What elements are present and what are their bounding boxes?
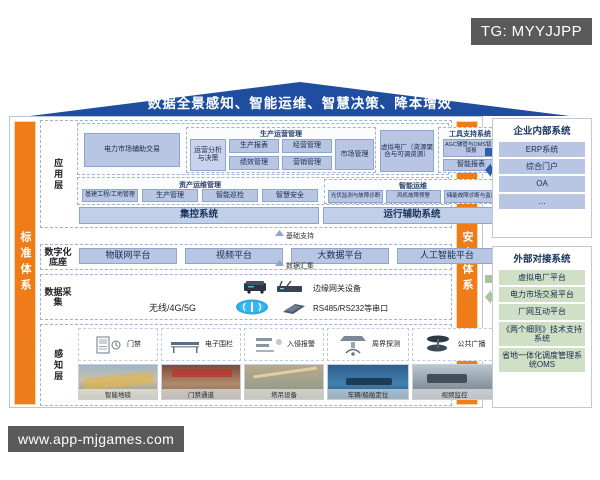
app-wind-alarm[interactable]: 风机故障预警 xyxy=(386,190,441,203)
perception-electronic-fence-label: 电子围栏 xyxy=(205,341,233,348)
layer-digital-base-label: 数字化底座 xyxy=(41,245,75,269)
perception-intrusion-alarm-label: 入侵报警 xyxy=(287,341,315,348)
wireless-signal-icon xyxy=(235,299,269,315)
perception-perimeter-detection-label: 周界探测 xyxy=(372,341,400,348)
app-production-mgmt[interactable]: 生产管理 xyxy=(142,189,198,202)
internal-item-erp[interactable]: ERP系统 xyxy=(499,142,585,157)
access-control-icon xyxy=(95,334,125,356)
layer-perception-label: 感知层 xyxy=(41,325,75,405)
layer-data-collect: 数据采集 边缘网关设备 无线/4G/5G xyxy=(40,274,452,320)
app-bottom-row: 集控系统 运行辅助系统 xyxy=(79,207,447,225)
app-pv-monitor[interactable]: 光伏监测与故障诊断 xyxy=(328,190,383,203)
photo-caption-vehicle-vessel: 车辆/船舶定位 xyxy=(328,389,408,399)
app-marketing-mgmt[interactable]: 营销管理 xyxy=(282,156,332,170)
perception-photo-weighbridge[interactable]: 智能地磅 xyxy=(78,364,158,400)
internal-item-more[interactable]: … xyxy=(499,194,585,209)
router-icon xyxy=(275,280,305,295)
external-item-grid-interaction[interactable]: 厂网互动平台 xyxy=(499,304,585,319)
connector-base-support: 基础支持 xyxy=(275,230,314,241)
layer-perception: 感知层 门禁 xyxy=(40,324,452,406)
layer-digital-base: 数字化底座 物联网平台 视频平台 大数据平台 人工智能平台 xyxy=(40,244,452,270)
app-business-mgmt[interactable]: 经营管理 xyxy=(282,139,332,153)
connector-data-aggregate: 数据汇集 xyxy=(275,260,314,271)
layer-application-body: 电力市场辅助交易 生产运营管理 运营分析与决策 生产报表 经营管理 绩效管理 营… xyxy=(75,121,451,227)
app-smart-safety[interactable]: 智慧安全 xyxy=(262,189,318,202)
base-iot-platform[interactable]: 物联网平台 xyxy=(79,248,177,264)
serial-cable-icon xyxy=(281,301,307,315)
pillar-standard-system: 标准体系 xyxy=(14,121,36,405)
layer-data-collect-body: 边缘网关设备 无线/4G/5G RS485/RS232等串口 xyxy=(75,275,451,319)
edge-device-icon xyxy=(243,279,269,294)
watermark-site: www.app-mjgames.com xyxy=(8,426,184,452)
app-market-mgmt[interactable]: 市场管理 xyxy=(335,139,374,170)
base-ai-platform[interactable]: 人工智能平台 xyxy=(397,248,497,264)
watermark-telegram: TG: MYYJJPP xyxy=(471,18,592,45)
app-market-trade[interactable]: 电力市场辅助交易 xyxy=(84,133,180,167)
app-performance-mgmt[interactable]: 绩效管理 xyxy=(229,156,279,170)
app-prod-report[interactable]: 生产报表 xyxy=(229,139,279,153)
perception-electronic-fence[interactable]: 电子围栏 xyxy=(161,328,241,361)
internal-item-portal[interactable]: 综合门户 xyxy=(499,159,585,174)
intrusion-alarm-icon xyxy=(253,334,285,356)
layer-digital-base-body: 物联网平台 视频平台 大数据平台 人工智能平台 xyxy=(75,245,451,269)
app-middle-group: 资产运维管理 基建工程/工地管理 生产管理 智能巡检 智慧安全 智能运维 光伏监… xyxy=(77,177,449,205)
photo-caption-video-surveillance: 视频监控 xyxy=(413,389,496,399)
perception-intrusion-alarm[interactable]: 入侵报警 xyxy=(244,328,324,361)
app-aux-system[interactable]: 运行辅助系统 xyxy=(323,207,501,224)
app-operation-analysis[interactable]: 运营分析与决策 xyxy=(190,139,226,171)
perception-photo-video-surveillance[interactable]: 视频监控 xyxy=(412,364,497,400)
perception-access-control-label: 门禁 xyxy=(127,341,141,348)
layer-perception-body: 门禁 电子围栏 xyxy=(75,325,451,405)
photo-caption-tower-crane: 塔吊设备 xyxy=(245,389,323,399)
perimeter-detection-icon xyxy=(336,333,370,357)
architecture-frame: 标准体系 安全体系 应用层 电力市场辅助交易 生产运营管理 运营分析与决策 生产… xyxy=(9,116,483,408)
perception-public-broadcast[interactable]: 公共广播 xyxy=(412,328,497,361)
perception-photo-gate-channel[interactable]: 门禁通道 xyxy=(161,364,241,400)
layer-stack: 应用层 电力市场辅助交易 生产运营管理 运营分析与决策 生产报表 经营管理 绩效… xyxy=(40,120,452,404)
public-broadcast-icon xyxy=(424,333,456,357)
app-smart-inspection[interactable]: 智能巡检 xyxy=(202,189,258,202)
external-item-two-rules[interactable]: 《两个细则》技术支持系统 xyxy=(499,322,585,346)
electronic-fence-icon xyxy=(169,335,203,355)
external-item-vpp[interactable]: 虚拟电厂平台 xyxy=(499,270,585,285)
panel-internal-title: 企业内部系统 xyxy=(493,119,591,140)
app-production-group: 生产运营管理 运营分析与决策 生产报表 经营管理 绩效管理 营销管理 市场管理 xyxy=(186,127,376,173)
headline-banner: 数据全景感知、智能运维、智慧决策、降本增效 xyxy=(0,82,600,116)
photo-caption-weighbridge: 智能地磅 xyxy=(79,389,157,399)
photo-caption-gate-channel: 门禁通道 xyxy=(162,389,240,399)
app-storage-diagnosis[interactable]: 储能故障诊断与监测 xyxy=(444,190,499,203)
app-asset-group: 资产运维管理 基建工程/工地管理 生产管理 智能巡检 智慧安全 xyxy=(80,179,320,204)
serial-label: RS485/RS232等串口 xyxy=(313,303,388,314)
app-production-group-title: 生产运营管理 xyxy=(187,129,375,139)
edge-gateway-label: 边缘网关设备 xyxy=(313,283,361,294)
app-virtual-power-plant[interactable]: 虚拟电厂（资源聚合与可调资源） xyxy=(380,130,434,172)
app-centralized-system[interactable]: 集控系统 xyxy=(79,207,319,224)
perception-photo-tower-crane[interactable]: 塔吊设备 xyxy=(244,364,324,400)
banner-title: 数据全景感知、智能运维、智慧决策、降本增效 xyxy=(0,92,600,112)
perception-access-control[interactable]: 门禁 xyxy=(78,328,158,361)
panel-external-title: 外部对接系统 xyxy=(493,247,591,268)
app-ops-group: 智能运维 光伏监测与故障诊断 风机故障预警 储能故障诊断与监测 xyxy=(324,179,502,204)
perception-perimeter-detection[interactable]: 周界探测 xyxy=(327,328,409,361)
layer-application-label: 应用层 xyxy=(41,121,75,227)
layer-data-collect-label: 数据采集 xyxy=(41,275,75,319)
arrow-up-icon xyxy=(275,230,284,239)
app-construction-mgmt[interactable]: 基建工程/工地管理 xyxy=(82,189,138,202)
arrow-up-icon xyxy=(275,260,284,269)
panel-external-systems: 外部对接系统 虚拟电厂平台 电力市场交易平台 厂网互动平台 《两个细则》技术支持… xyxy=(492,246,592,408)
layer-application: 应用层 电力市场辅助交易 生产运营管理 运营分析与决策 生产报表 经营管理 绩效… xyxy=(40,120,452,228)
external-item-oms[interactable]: 省地一体化调度管理系统OMS xyxy=(499,348,585,372)
perception-photo-vehicle-vessel[interactable]: 车辆/船舶定位 xyxy=(327,364,409,400)
external-item-market[interactable]: 电力市场交易平台 xyxy=(499,287,585,302)
internal-item-oa[interactable]: OA xyxy=(499,176,585,191)
app-upper-group: 电力市场辅助交易 生产运营管理 运营分析与决策 生产报表 经营管理 绩效管理 营… xyxy=(77,123,449,175)
perception-public-broadcast-label: 公共广播 xyxy=(458,341,486,348)
wireless-label: 无线/4G/5G xyxy=(149,301,196,314)
panel-internal-systems: 企业内部系统 ERP系统 综合门户 OA … xyxy=(492,118,592,238)
base-video-platform[interactable]: 视频平台 xyxy=(185,248,283,264)
